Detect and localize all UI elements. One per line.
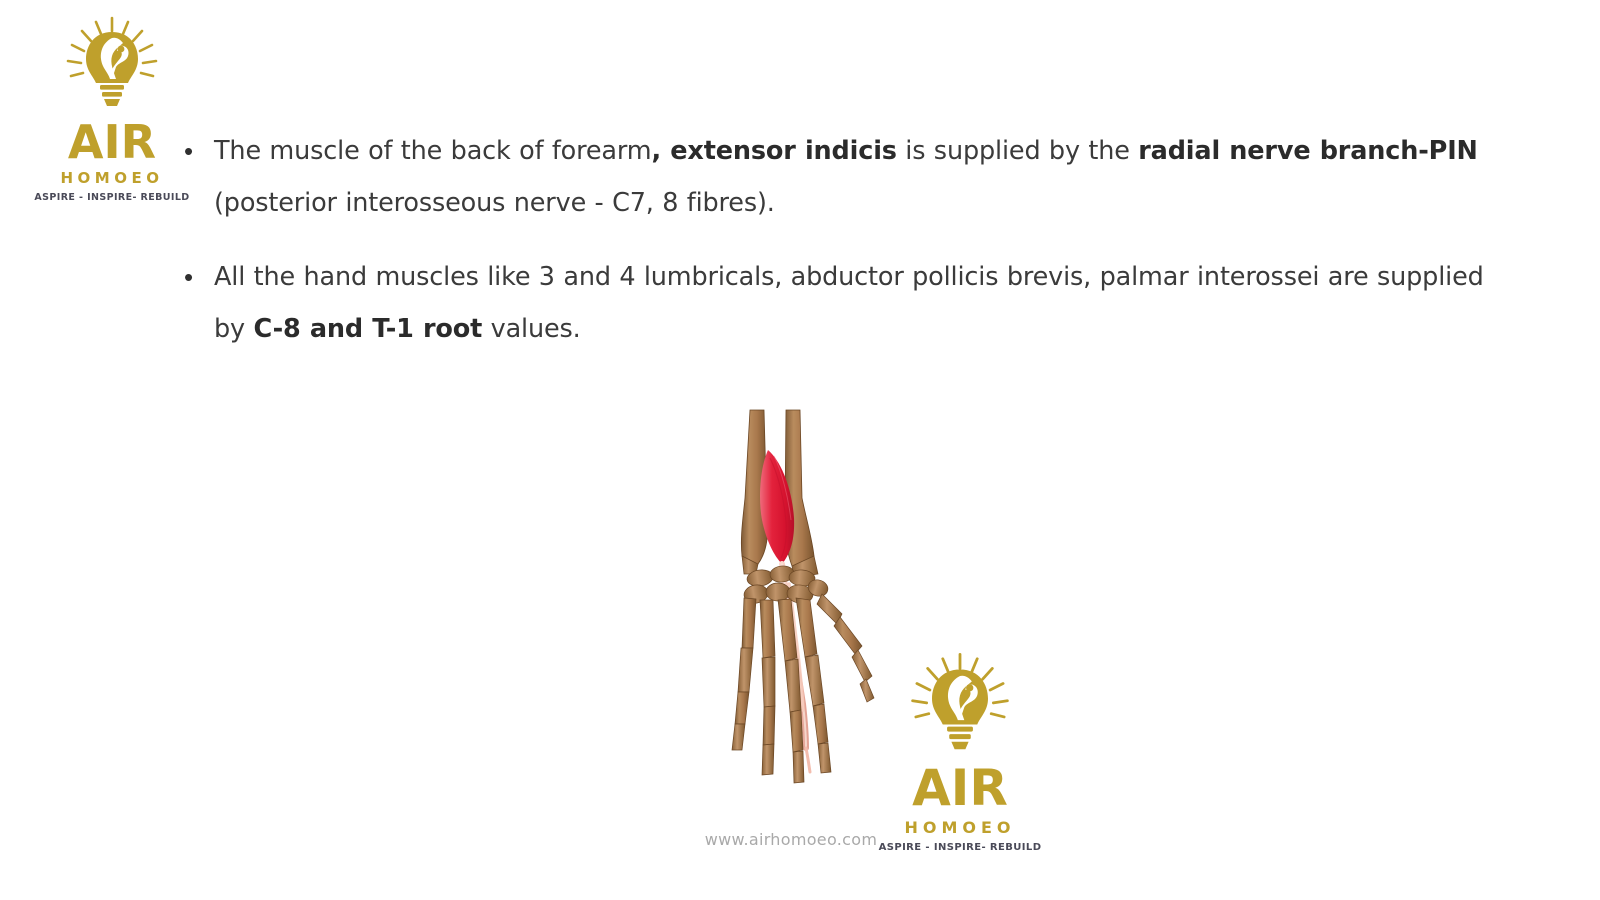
bullet-2-seg-1: C-8 and T-1 root bbox=[253, 314, 482, 344]
bullet-1-seg-2: is supplied by the bbox=[897, 136, 1138, 166]
bullet-1-seg-3: radial nerve branch-PIN bbox=[1138, 136, 1478, 166]
bullet-1-seg-4: (posterior interosseous nerve - C7, 8 fi… bbox=[214, 188, 775, 218]
bullet-text-2: All the hand muscles like 3 and 4 lumbri… bbox=[214, 251, 1490, 355]
lightbulb-idea-icon bbox=[904, 652, 1016, 761]
logo-subtitle: HOMOEO bbox=[61, 171, 164, 186]
bullet-2-seg-2: values. bbox=[482, 314, 580, 344]
bullet-marker: • bbox=[180, 251, 214, 303]
lightbulb-idea-icon bbox=[60, 16, 164, 117]
bullet-marker: • bbox=[180, 125, 214, 177]
bullet-1-seg-1: , extensor indicis bbox=[652, 136, 897, 166]
logo-wordmark: AIR bbox=[912, 763, 1008, 813]
slide-body: • The muscle of the back of forearm, ext… bbox=[180, 125, 1490, 377]
brand-logo-top-left: AIR HOMOEO ASPIRE - INSPIRE- REBUILD bbox=[42, 16, 182, 203]
bullet-item: • The muscle of the back of forearm, ext… bbox=[180, 125, 1490, 229]
site-url-text: www.airhomoeo.com bbox=[705, 830, 877, 849]
brand-logo-inline: AIR HOMOEO ASPIRE - INSPIRE- REBUILD bbox=[880, 652, 1040, 853]
logo-wordmark: AIR bbox=[68, 119, 156, 165]
bullet-item: • All the hand muscles like 3 and 4 lumb… bbox=[180, 251, 1490, 355]
bullet-text-1: The muscle of the back of forearm, exten… bbox=[214, 125, 1490, 229]
forearm-hand-skeleton-illustration bbox=[690, 398, 900, 798]
logo-tagline: ASPIRE - INSPIRE- REBUILD bbox=[34, 193, 189, 203]
site-url: www.airhomoeo.com bbox=[0, 830, 1600, 849]
bullet-1-seg-0: The muscle of the back of forearm bbox=[214, 136, 652, 166]
